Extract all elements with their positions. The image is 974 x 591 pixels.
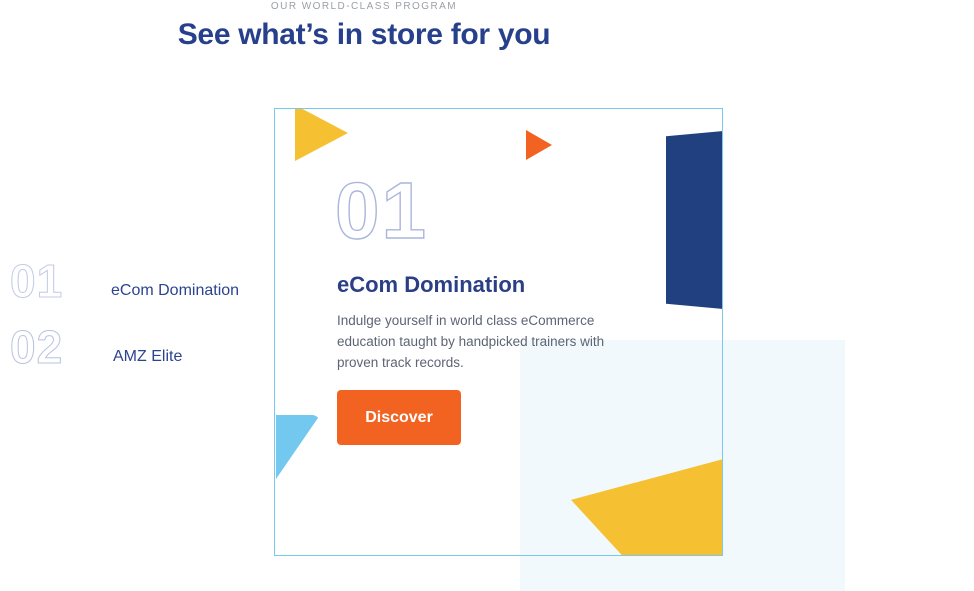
program-number-1: 01 (10, 258, 63, 304)
program-list-item-2[interactable]: 02 AMZ Elite (0, 324, 274, 390)
yellow-triangle-icon (295, 108, 348, 161)
program-label-1[interactable]: eCom Domination (111, 282, 239, 300)
card-watermark-number: 01 (335, 171, 428, 251)
section-eyebrow: OUR WORLD-CLASS PROGRAM (0, 1, 728, 12)
card-title: eCom Domination (337, 272, 525, 298)
program-number-2: 02 (10, 324, 63, 370)
orange-triangle-icon (526, 130, 552, 160)
blue-triangle-icon (276, 415, 320, 479)
program-detail-card: 01 eCom Domination Indulge yourself in w… (274, 108, 723, 556)
discover-button[interactable]: Discover (337, 390, 461, 445)
card-description: Indulge yourself in world class eCommerc… (337, 310, 629, 373)
program-list-item-1[interactable]: 01 eCom Domination (0, 258, 274, 324)
page-root: OUR WORLD-CLASS PROGRAM See what’s in st… (0, 0, 974, 591)
yellow-slab-shape (571, 457, 723, 556)
program-label-2[interactable]: AMZ Elite (113, 348, 182, 366)
navy-slab-shape (666, 129, 723, 311)
page-title: See what’s in store for you (0, 18, 728, 52)
program-list: 01 eCom Domination 02 AMZ Elite (0, 258, 274, 390)
